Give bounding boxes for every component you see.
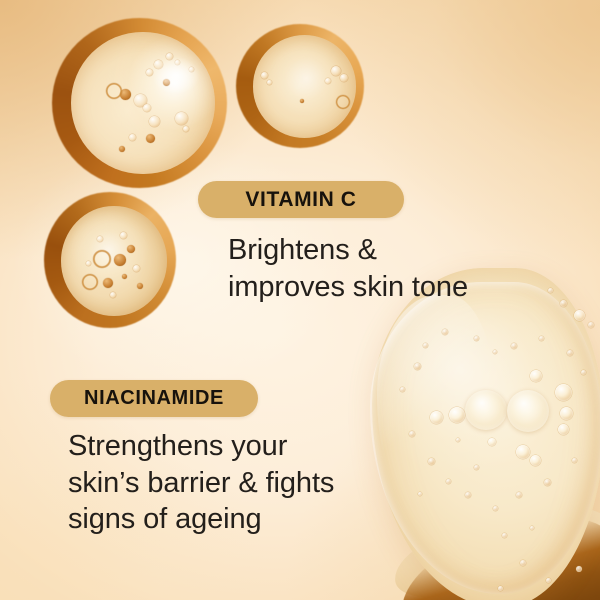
droplet-bubble <box>120 232 127 239</box>
droplet-bubble <box>261 72 268 79</box>
droplet-bubble <box>143 104 151 112</box>
serum-bubble-micro <box>511 343 517 349</box>
serum-bubble-micro <box>581 370 586 375</box>
droplet-highlight <box>152 57 201 94</box>
droplet-bubble-ring <box>82 274 98 290</box>
serum-bubble <box>530 370 542 382</box>
droplet-bubble <box>114 254 126 266</box>
droplet-bubble <box>133 265 140 272</box>
serum-bubble <box>530 455 541 466</box>
serum-bubble <box>555 384 572 401</box>
droplet-bubble-ring <box>106 83 122 99</box>
droplet-core <box>61 206 167 316</box>
droplet-bubble <box>149 116 160 127</box>
serum-bubble <box>558 424 569 435</box>
badge-niacinamide-label: NIACINAMIDE <box>84 387 224 410</box>
droplet-bubble <box>175 112 188 125</box>
droplet-bubble <box>86 261 91 266</box>
serum-bubble-micro <box>560 300 567 307</box>
droplet-bubble <box>122 274 127 279</box>
droplet-bubble <box>119 146 125 152</box>
droplet-bubble <box>137 283 143 289</box>
droplet-bubble-ring <box>93 250 111 268</box>
serum-bubble-micro <box>442 329 448 335</box>
benefit-text-vitamin-c: Brightens & improves skin tone <box>228 232 558 305</box>
serum-bubble <box>430 411 443 424</box>
droplet-bubble <box>146 134 155 143</box>
serum-bubble-micro <box>498 586 503 591</box>
droplet-bubble <box>97 236 103 242</box>
serum-bubble <box>516 445 530 459</box>
badge-vitamin-c: VITAMIN C <box>198 181 404 218</box>
serum-bubble-micro <box>414 363 421 370</box>
serum-bubble-micro <box>520 560 526 566</box>
serum-bubble-large <box>465 390 507 430</box>
badge-niacinamide: NIACINAMIDE <box>50 380 258 417</box>
serum-bubble-micro <box>588 322 594 328</box>
serum-bubble-micro <box>493 506 498 511</box>
droplet-bubble <box>110 292 116 298</box>
serum-bubble <box>449 407 465 423</box>
droplet-bubble <box>183 126 189 132</box>
benefit-text-niacinamide: Strengthens your skin’s barrier & fights… <box>68 428 428 538</box>
serum-bubble-micro <box>567 350 573 356</box>
serum-bubble-micro <box>493 350 497 354</box>
droplet-core <box>71 32 215 175</box>
serum-droplet-large-icon <box>52 18 227 188</box>
serum-bubble-micro <box>456 438 460 442</box>
badge-vitamin-c-label: VITAMIN C <box>245 188 356 212</box>
serum-droplet-left-icon <box>44 192 176 328</box>
serum-bubble-micro <box>400 387 405 392</box>
serum-bubble <box>574 310 585 321</box>
serum-bubble-micro <box>539 336 544 341</box>
droplet-bubble <box>325 78 331 84</box>
product-benefits-graphic: VITAMIN C Brightens & improves skin tone… <box>0 0 600 600</box>
serum-droplet-top-right-icon <box>236 24 364 148</box>
droplet-core <box>253 35 357 138</box>
droplet-bubble-ring <box>336 95 350 109</box>
serum-bubble-micro <box>544 479 551 486</box>
serum-bubble-large <box>507 390 549 432</box>
droplet-bubble <box>267 80 272 85</box>
droplet-bubble <box>103 278 113 288</box>
droplet-bubble <box>127 245 135 253</box>
serum-bubble-micro <box>572 458 577 463</box>
droplet-bubble <box>340 74 348 82</box>
serum-bubble-micro <box>546 578 551 583</box>
serum-bubble <box>488 438 496 446</box>
droplet-bubble <box>300 99 304 103</box>
serum-bubble-micro <box>423 343 428 348</box>
droplet-bubble <box>129 134 136 141</box>
serum-bubble-micro <box>576 566 582 572</box>
